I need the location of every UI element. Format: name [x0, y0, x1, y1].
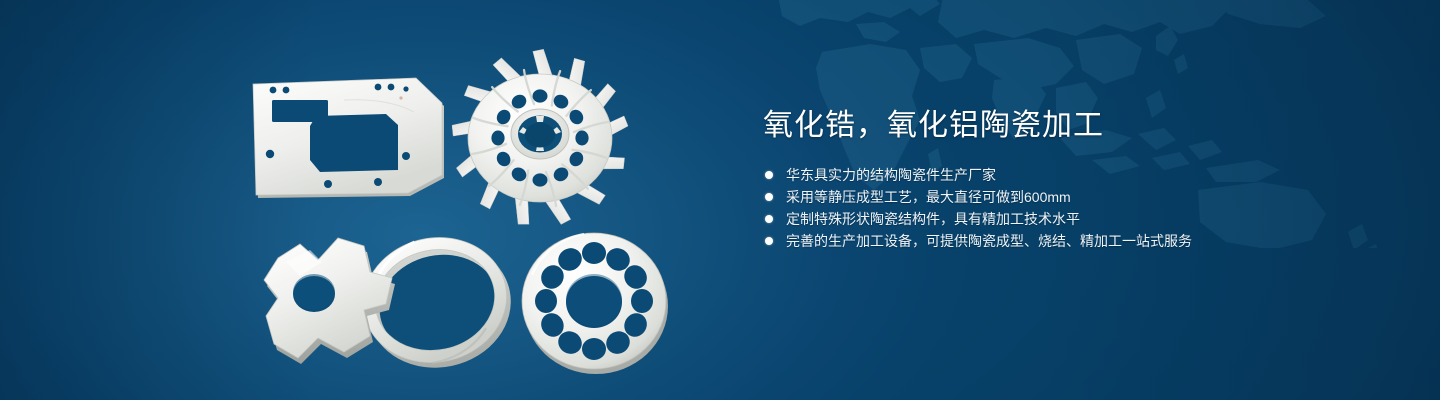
feature-item-label: 采用等静压成型工艺，最大直径可做到600mm [786, 189, 1071, 205]
bullet-dot-icon [765, 193, 773, 201]
banner-headline: 氧化锆，氧化铝陶瓷加工 [763, 106, 1383, 146]
feature-item-label: 完善的生产加工设备，可提供陶瓷成型、烧结、精加工一站式服务 [786, 233, 1192, 249]
ceramic-bladed-impeller [452, 52, 628, 224]
product-banner: 氧化锆，氧化铝陶瓷加工 华东具实力的结构陶瓷件生产厂家 采用等静压成型工艺，最大… [0, 0, 1440, 400]
ceramic-cross-plate [252, 232, 432, 372]
ceramic-mounting-plate [248, 78, 448, 203]
bullet-dot-icon [765, 237, 773, 245]
banner-text-column: 氧化锆，氧化铝陶瓷加工 华东具实力的结构陶瓷件生产厂家 采用等静压成型工艺，最大… [763, 106, 1383, 252]
feature-item: 完善的生产加工设备，可提供陶瓷成型、烧结、精加工一站式服务 [763, 230, 1383, 252]
feature-item-label: 华东具实力的结构陶瓷件生产厂家 [786, 167, 996, 183]
bullet-dot-icon [765, 215, 773, 223]
feature-item: 华东具实力的结构陶瓷件生产厂家 [763, 164, 1383, 186]
bullet-dot-icon [765, 171, 773, 179]
feature-item-label: 定制特殊形状陶瓷结构件，具有精加工技术水平 [786, 211, 1080, 227]
feature-item: 采用等静压成型工艺，最大直径可做到600mm [763, 186, 1383, 208]
feature-list: 华东具实力的结构陶瓷件生产厂家 采用等静压成型工艺，最大直径可做到600mm 定… [763, 164, 1383, 252]
feature-item: 定制特殊形状陶瓷结构件，具有精加工技术水平 [763, 208, 1383, 230]
ceramic-perforated-disc [518, 228, 670, 374]
